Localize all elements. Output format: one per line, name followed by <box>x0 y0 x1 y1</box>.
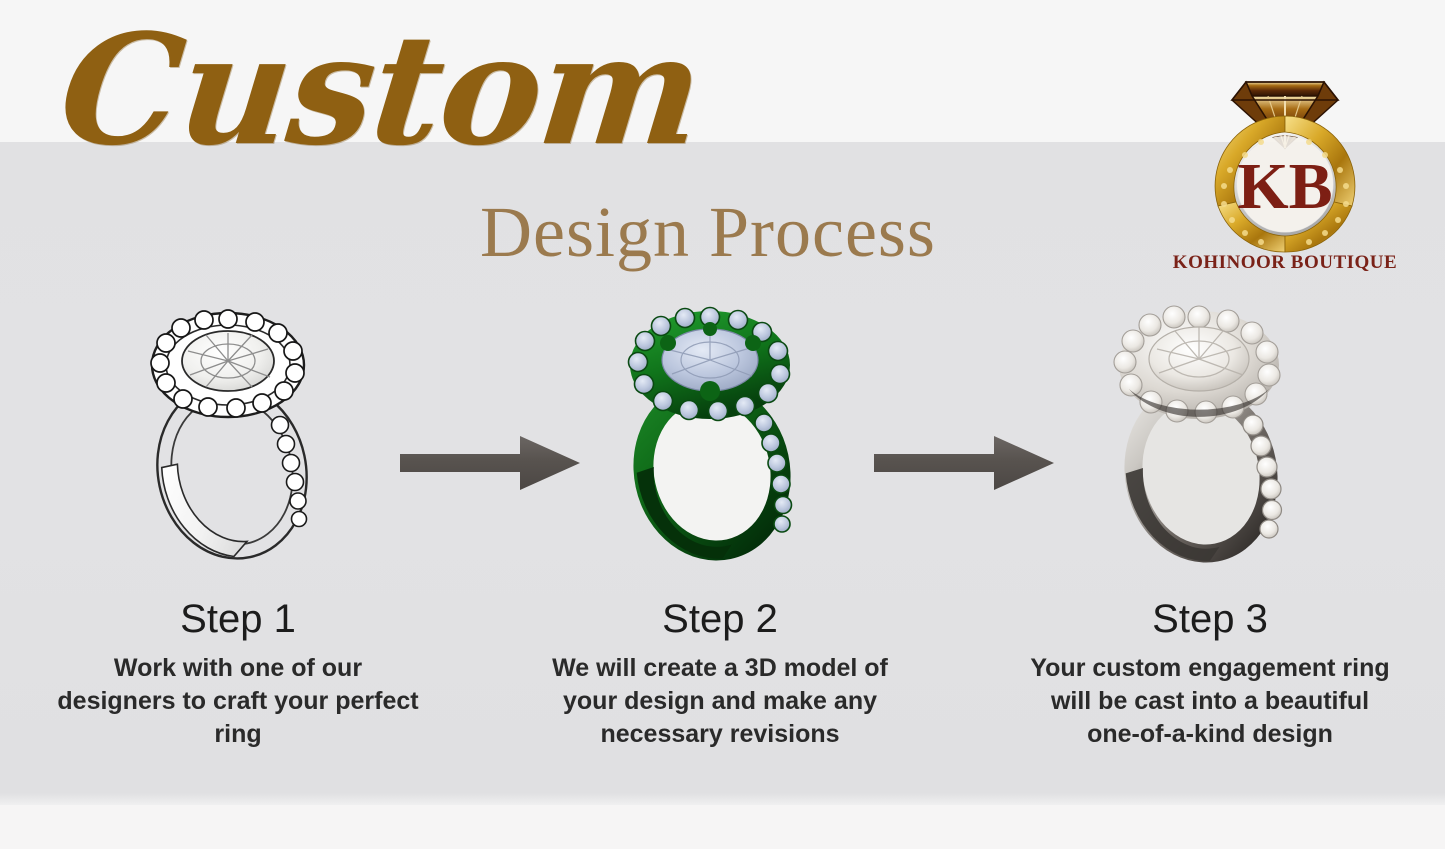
finished-diamond-ring-icon <box>1095 303 1325 568</box>
logo-caption: KOHINOOR BOUTIQUE <box>1160 252 1410 274</box>
step-2-block: Step 2 We will create a 3D model of your… <box>530 300 910 751</box>
step-2-description: We will create a 3D model of your design… <box>530 652 910 751</box>
step-1-title: Step 1 <box>48 598 428 640</box>
custom-design-process-banner: Custom Design Process <box>0 0 1445 849</box>
background-band-bottom <box>0 805 1445 849</box>
step-3-title: Step 3 <box>1020 598 1400 640</box>
pencil-sketch-halo-ring-icon <box>128 303 348 568</box>
step-1-block: Step 1 Work with one of our designers to… <box>48 300 428 751</box>
kohinoor-boutique-logo: KB KOHINOOR BOUTIQUE <box>1160 56 1410 284</box>
step-3-description: Your custom engagement ring will be cast… <box>1020 652 1400 751</box>
headline-custom: Custom <box>54 14 707 166</box>
step-2-title: Step 2 <box>530 598 910 640</box>
step-3-ring-art <box>1020 300 1400 570</box>
step-3-block: Step 3 Your custom engagement ring will … <box>1020 300 1400 751</box>
green-cad-model-ring-icon <box>608 303 833 568</box>
step-1-ring-art <box>48 300 428 570</box>
logo-ring-mark: KB <box>1160 56 1410 256</box>
logo-monogram-kb: KB <box>1237 150 1332 223</box>
headline-design-process: Design Process <box>480 196 936 268</box>
step-2-ring-art <box>530 300 910 570</box>
step-1-description: Work with one of our designers to craft … <box>48 652 428 751</box>
